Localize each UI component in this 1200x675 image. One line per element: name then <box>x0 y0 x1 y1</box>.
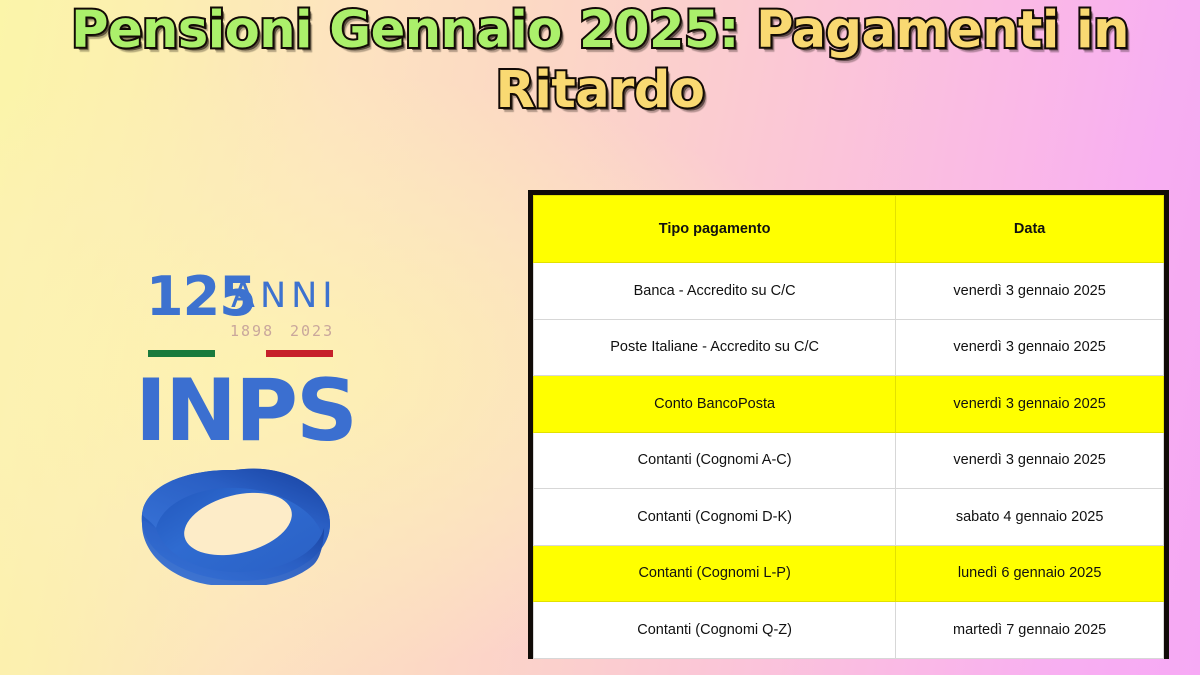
cell-data: sabato 4 gennaio 2025 <box>896 489 1164 546</box>
title-line-2: Ritardo <box>0 66 1200 116</box>
page-title: Pensioni Gennaio 2025: Pagamenti in Rita… <box>0 6 1200 116</box>
logo-anniversary-word: ANNI <box>231 276 338 316</box>
title-line-1: Pensioni Gennaio 2025: Pagamenti in <box>0 6 1200 56</box>
flag-bar-red <box>266 350 333 357</box>
cell-tipo-pagamento: Contanti (Cognomi Q-Z) <box>534 602 896 659</box>
table-row: Poste Italiane - Accredito su C/Cvenerdì… <box>534 319 1164 376</box>
table-row: Contanti (Cognomi Q-Z)martedì 7 gennaio … <box>534 602 1164 659</box>
table-head: Tipo pagamento Data <box>534 196 1164 263</box>
column-header-tipo-pagamento: Tipo pagamento <box>534 196 896 263</box>
cell-data: lunedì 6 gennaio 2025 <box>896 545 1164 602</box>
table-header-row: Tipo pagamento Data <box>534 196 1164 263</box>
table-row: Contanti (Cognomi L-P)lunedì 6 gennaio 2… <box>534 545 1164 602</box>
cell-data: venerdì 3 gennaio 2025 <box>896 319 1164 376</box>
table-row: Contanti (Cognomi D-K)sabato 4 gennaio 2… <box>534 489 1164 546</box>
logo-year-from: 1898 <box>230 322 274 340</box>
payments-table: Tipo pagamento Data Banca - Accredito su… <box>533 195 1164 659</box>
table-row: Conto BancoPostavenerdì 3 gennaio 2025 <box>534 376 1164 433</box>
cell-tipo-pagamento: Poste Italiane - Accredito su C/C <box>534 319 896 376</box>
title-segment-gold-2: Ritardo <box>496 61 705 120</box>
cell-data: venerdì 3 gennaio 2025 <box>896 376 1164 433</box>
cell-tipo-pagamento: Conto BancoPosta <box>534 376 896 433</box>
cell-tipo-pagamento: Contanti (Cognomi L-P) <box>534 545 896 602</box>
cell-tipo-pagamento: Contanti (Cognomi A-C) <box>534 432 896 489</box>
payments-table-container: Tipo pagamento Data Banca - Accredito su… <box>528 190 1169 659</box>
column-header-data: Data <box>896 196 1164 263</box>
table-row: Contanti (Cognomi A-C)venerdì 3 gennaio … <box>534 432 1164 489</box>
flag-bar-green <box>148 350 215 357</box>
table-body: Banca - Accredito su C/Cvenerdì 3 gennai… <box>534 263 1164 659</box>
cell-tipo-pagamento: Banca - Accredito su C/C <box>534 263 896 320</box>
logo-wordmark: INPS <box>135 361 356 461</box>
inps-logo: 125 ANNI 1898 2023 INPS <box>118 255 363 585</box>
cell-data: venerdì 3 gennaio 2025 <box>896 263 1164 320</box>
title-segment-green: Pensioni Gennaio 2025: <box>71 1 756 60</box>
title-segment-gold: Pagamenti in <box>756 1 1129 60</box>
cell-data: martedì 7 gennaio 2025 <box>896 602 1164 659</box>
cell-tipo-pagamento: Contanti (Cognomi D-K) <box>534 489 896 546</box>
cell-data: venerdì 3 gennaio 2025 <box>896 432 1164 489</box>
logo-year-to: 2023 <box>290 322 334 340</box>
inps-ribbon-ellipse-icon <box>142 469 330 585</box>
table-row: Banca - Accredito su C/Cvenerdì 3 gennai… <box>534 263 1164 320</box>
